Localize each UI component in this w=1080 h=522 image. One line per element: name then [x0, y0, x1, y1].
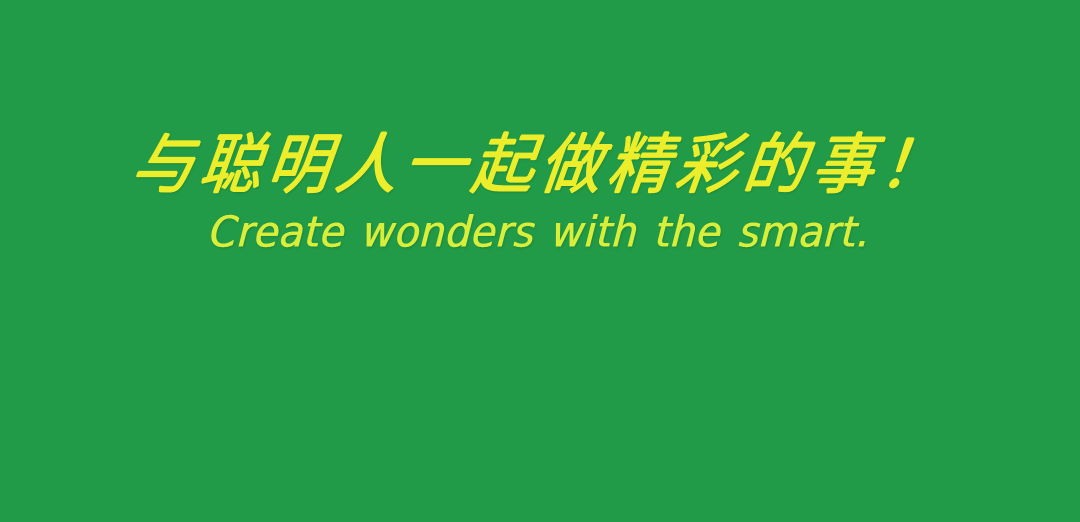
subtitle-english: Create wonders with the smart.: [208, 211, 872, 254]
headline-chinese: 与聪明人一起做精彩的事！: [128, 132, 952, 198]
slogan-text-block: 与聪明人一起做精彩的事！ Create wonders with the sma…: [0, 0, 1080, 300]
slogan-banner: 与聪明人一起做精彩的事！ Create wonders with the sma…: [0, 0, 1080, 522]
